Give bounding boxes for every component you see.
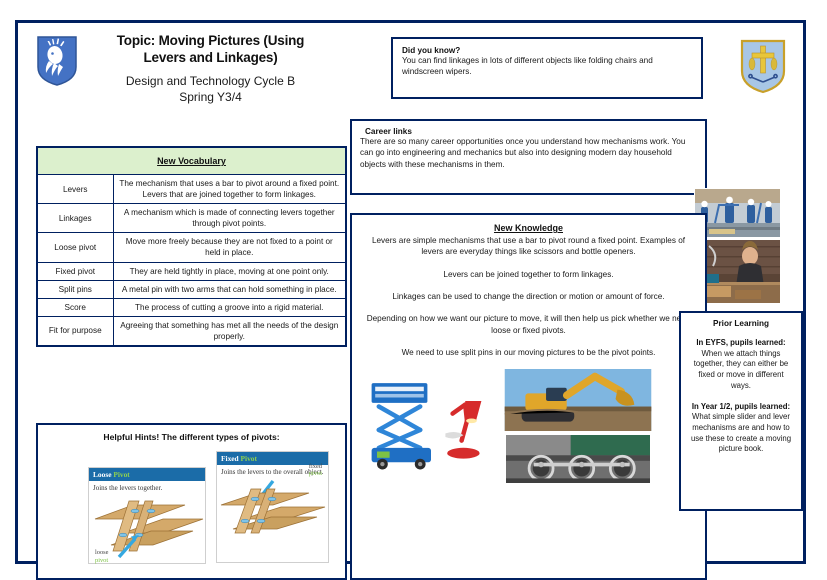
prior-learning-text: What simple slider and lever mechanisms … [689, 412, 793, 455]
vocab-term: Split pins [37, 280, 113, 298]
pivot-diagram-row: Loose Pivot Joins the levers together. [46, 449, 337, 567]
title-line-2: Levers and Linkages) [143, 50, 277, 65]
loose-pivot-diagram-card: Loose Pivot Joins the levers together. [88, 467, 206, 564]
excavator-photo [504, 369, 652, 436]
knowledge-organiser-page: Topic: Moving Pictures (Using Levers and… [15, 20, 806, 564]
prior-learning-subheading: In EYFS, pupils learned: [689, 338, 793, 349]
career-links-heading: Career links [360, 127, 697, 136]
vocab-definition: They are held tightly in place, moving a… [113, 262, 346, 280]
loose-pivot-word-1: Loose [93, 470, 111, 479]
table-row: Split pins A metal pin with two arms tha… [37, 280, 346, 298]
vocab-term: Score [37, 298, 113, 316]
vocab-term: Fit for purpose [37, 316, 113, 346]
prior-learning-box: Prior Learning In EYFS, pupils learned: … [679, 311, 803, 511]
fixed-pivot-word-2: Pivot [241, 454, 257, 463]
new-knowledge-box: New Knowledge Levers are simple mechanis… [350, 213, 707, 580]
loose-pivot-card-heading: Loose Pivot [89, 468, 205, 481]
term-line: Spring Y3/4 [179, 90, 242, 104]
church-school-crest-logo [738, 37, 788, 95]
loose-pivot-label: loose pivot [95, 549, 109, 564]
vocab-definition: Agreeing that something has met all the … [113, 316, 346, 346]
fixed-pivot-label: fixed pivot [309, 463, 322, 478]
table-header-row: New Vocabulary [37, 147, 346, 175]
vocab-definition: The process of cutting a groove into a r… [113, 298, 346, 316]
new-knowledge-heading: New Knowledge [362, 223, 695, 233]
new-knowledge-paragraph: We need to use split pins in our moving … [362, 347, 695, 358]
fixed-pivot-illustration: fixed pivot [217, 477, 328, 544]
vocab-term: Fixed pivot [37, 262, 113, 280]
fixed-pivot-label-word-2: pivot [309, 470, 322, 477]
prior-learning-text: When we attach things together, they can… [689, 349, 793, 392]
new-knowledge-paragraph: Depending on how we want our picture to … [362, 313, 695, 336]
vocab-term: Levers [37, 175, 113, 204]
stag-head-shield-logo [35, 33, 79, 87]
vocab-definition: A mechanism which is made of connecting … [113, 204, 346, 233]
new-knowledge-paragraph: Levers are simple mechanisms that use a … [362, 235, 695, 258]
new-knowledge-image-group [362, 369, 695, 489]
helpful-hints-heading: Helpful Hints! The different types of pi… [46, 432, 337, 442]
locomotive-wheels-photo [504, 435, 652, 488]
title-line-1: Topic: Moving Pictures (Using [117, 33, 304, 48]
table-row: Levers The mechanism that uses a bar to … [37, 175, 346, 204]
desk-lamp-photo [440, 393, 494, 468]
prior-learning-heading: Prior Learning [689, 319, 793, 328]
table-row: Fixed pivot They are held tightly in pla… [37, 262, 346, 280]
loose-pivot-illustration: loose pivot [89, 493, 205, 566]
loose-pivot-word-2: Pivot [113, 470, 129, 479]
did-you-know-body: You can find linkages in lots of differe… [402, 55, 692, 78]
new-knowledge-paragraph: Levers can be joined together to form li… [362, 269, 695, 280]
helpful-hints-box: Helpful Hints! The different types of pi… [36, 423, 347, 580]
table-row: Score The process of cutting a groove in… [37, 298, 346, 316]
fixed-pivot-label-word-1: fixed [309, 463, 322, 470]
table-row: Loose pivot Move more freely because the… [37, 233, 346, 262]
new-knowledge-paragraph: Linkages can be used to change the direc… [362, 291, 695, 302]
loose-pivot-label-word-2: pivot [95, 557, 109, 564]
prior-learning-subheading: In Year 1/2, pupils learned: [689, 402, 793, 413]
new-vocabulary-table: New Vocabulary Levers The mechanism that… [36, 146, 347, 347]
fixed-pivot-word-1: Fixed [221, 454, 239, 463]
did-you-know-box: Did you know? You can find linkages in l… [391, 37, 703, 99]
career-links-body: There are so many career opportunities o… [360, 136, 697, 170]
vocab-term: Loose pivot [37, 233, 113, 262]
loose-pivot-label-word-1: loose [95, 549, 109, 556]
fixed-pivot-diagram-card: Fixed Pivot Joins the levers to the over… [216, 451, 329, 563]
page-title: Topic: Moving Pictures (Using Levers and… [88, 33, 333, 105]
did-you-know-heading: Did you know? [402, 46, 692, 55]
career-links-box: Career links There are so many career op… [350, 119, 707, 195]
table-row: Linkages A mechanism which is made of co… [37, 204, 346, 233]
subject-line: Design and Technology Cycle B [126, 74, 295, 88]
table-row: Fit for purpose Agreeing that something … [37, 316, 346, 346]
vocabulary-heading: New Vocabulary [37, 147, 346, 175]
scissor-lift-photo [368, 377, 440, 477]
vocab-definition: Move more freely because they are not fi… [113, 233, 346, 262]
loose-pivot-card-subtitle: Joins the levers together. [89, 481, 205, 493]
vocab-definition: The mechanism that uses a bar to pivot a… [113, 175, 346, 204]
vocab-term: Linkages [37, 204, 113, 233]
vocab-definition: A metal pin with two arms that can hold … [113, 280, 346, 298]
